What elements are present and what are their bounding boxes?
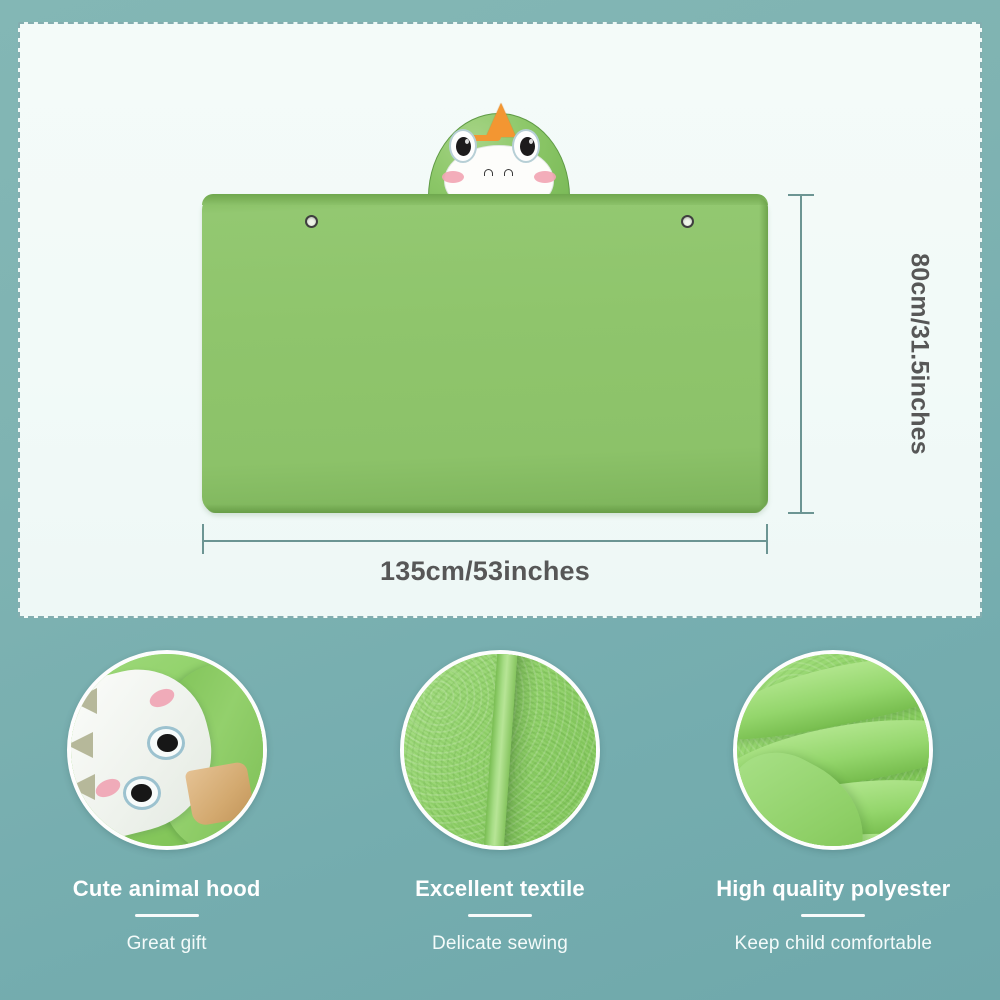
dinosaur-cheek-left [442,171,464,183]
feature-title: Cute animal hood [73,876,261,902]
width-dimension-cap-left [202,524,204,554]
feature-divider [801,914,865,917]
feature-subtitle: Keep child comfortable [734,933,932,955]
hood-closeup-pupil-1 [157,734,178,752]
towel-body [202,194,768,513]
width-dimension-line [202,540,768,542]
hood-closeup-spike-1 [71,688,97,714]
height-dimension-line [800,194,802,514]
height-dimension-cap-top [788,194,814,196]
width-dimension-cap-right [766,524,768,554]
fleece-closeup-photo [733,650,933,850]
towel-bottom-edge [206,504,764,513]
hood-closeup-photo [67,650,267,850]
height-dimension: 80cm/31.5inches [782,194,882,514]
feature-divider [468,914,532,917]
width-dimension-label: 135cm/53inches [202,556,768,587]
dinosaur-eye-glint-left [465,139,469,144]
dinosaur-eye-glint-right [529,139,533,144]
dinosaur-cheek-right [534,171,556,183]
feature-title: High quality polyester [716,876,950,902]
height-dimension-label: 80cm/31.5inches [904,253,933,455]
hood-closeup-pupil-2 [131,784,152,802]
dimension-diagram-panel: 80cm/31.5inches 135cm/53inches [18,22,982,618]
dinosaur-spike-icon [486,103,516,137]
product-infographic: 80cm/31.5inches 135cm/53inches [0,0,1000,1000]
feature-strip: Cute animal hood Great gift Excellent te… [0,636,1000,1000]
hood-closeup-spike-3 [69,774,95,800]
hood-closeup-spike-2 [67,732,93,758]
hood-closeup-tan-patch [184,761,255,827]
snap-button-right [681,215,694,228]
snap-button-left [305,215,318,228]
dinosaur-nostril-left [484,169,493,176]
width-dimension: 135cm/53inches [202,518,768,598]
towel-top-edge [202,194,768,205]
textile-closeup-photo [400,650,600,850]
feature-item: High quality polyester Keep child comfor… [667,636,1000,1000]
towel-right-edge [759,198,768,509]
feature-divider [135,914,199,917]
feature-item: Excellent textile Delicate sewing [333,636,666,1000]
feature-item: Cute animal hood Great gift [0,636,333,1000]
feature-title: Excellent textile [415,876,585,902]
height-dimension-cap-bottom [788,512,814,514]
feature-subtitle: Great gift [127,933,207,955]
feature-subtitle: Delicate sewing [432,933,568,955]
dinosaur-nostril-right [504,169,513,176]
